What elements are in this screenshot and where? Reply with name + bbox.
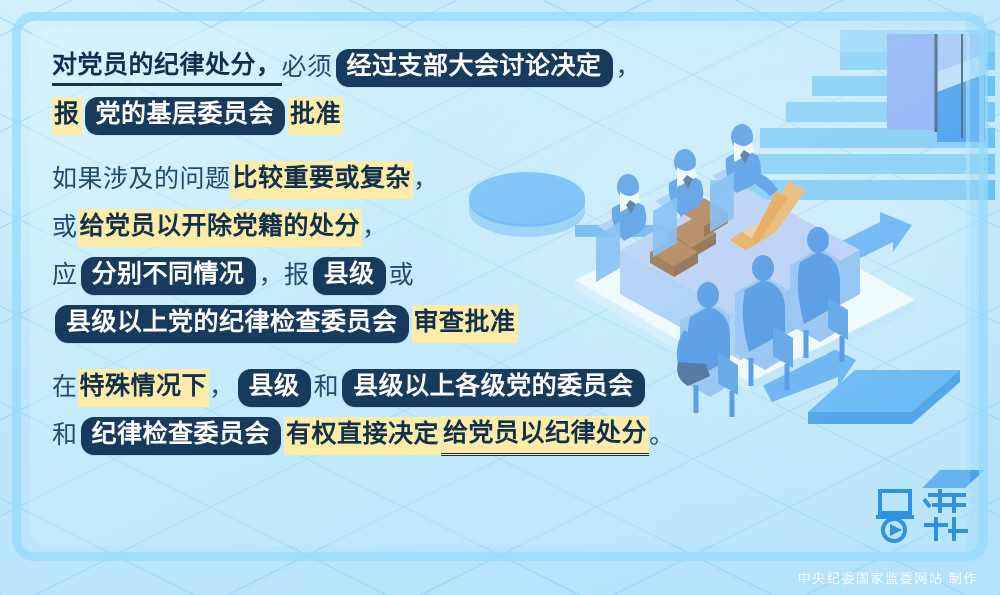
- pill-term: 经过支部大会讨论决定: [336, 49, 613, 88]
- pill-term: 分别不同情况: [81, 257, 256, 296]
- text-line: 县级以上党的纪律检查委员会审查批准: [52, 302, 692, 346]
- text-line: 和纪律检查委员会有权直接决定给党员以纪律处分。: [52, 414, 692, 458]
- figure-front-mid: [735, 255, 793, 390]
- plain-text: ，: [413, 164, 439, 197]
- plain-text: ，: [362, 212, 388, 245]
- arrow-right-far: [800, 212, 912, 281]
- jifake-logo: [870, 487, 974, 543]
- plain-text: ，: [209, 372, 235, 405]
- highlighted-term: 给党员以纪律处分: [441, 416, 649, 457]
- paragraph-p3: 在特殊情况下，县级和县级以上各级党的委员会和纪律检查委员会有权直接决定给党员以纪…: [52, 366, 692, 458]
- isometric-stairs: [710, 30, 995, 200]
- plain-text: 或: [389, 260, 415, 293]
- policy-text-block: 对党员的纪律处分，必须经过支部大会讨论决定，报党的基层委员会批准如果涉及的问题比…: [52, 46, 692, 462]
- plain-text: 。: [649, 420, 675, 453]
- pill-term: 县级以上各级党的委员会: [342, 369, 645, 408]
- plain-text: 报: [284, 260, 310, 293]
- pill-term: 县级: [238, 369, 311, 408]
- pill-term: 党的基层委员会: [85, 97, 286, 136]
- highlighted-term: 批准: [288, 97, 343, 135]
- logo-mark: [870, 487, 974, 543]
- plain-text: 和: [314, 372, 340, 405]
- pill-term: 县级: [313, 257, 386, 296]
- plain-text: 和: [52, 420, 78, 453]
- underlined-term: 对党员的纪律处分，: [52, 50, 282, 87]
- plain-text: 应: [52, 260, 78, 293]
- text-line: 或给党员以开除党籍的处分，: [52, 206, 692, 250]
- window-panel: [887, 34, 985, 142]
- poster-canvas: 对党员的纪律处分，必须经过支部大会讨论决定，报党的基层委员会批准如果涉及的问题比…: [0, 0, 1000, 595]
- plain-text: 必须: [282, 52, 333, 85]
- text-line: 如果涉及的问题比较重要或复杂，: [52, 158, 692, 202]
- text-line: 报党的基层委员会批准: [52, 94, 692, 138]
- credit-text: 中央纪委国家监委网站 制作: [798, 568, 978, 587]
- text-line: 在特殊情况下，县级和县级以上各级党的委员会: [52, 366, 692, 410]
- paragraph-p1: 对党员的纪律处分，必须经过支部大会讨论决定，报党的基层委员会批准: [52, 46, 692, 138]
- arrow-down-right: [760, 345, 856, 402]
- plain-text: 如果涉及的问题: [52, 164, 231, 197]
- figure-front-right: [790, 227, 848, 362]
- floating-platform: [808, 370, 960, 424]
- highlighted-term: 报: [52, 97, 82, 135]
- right-light-band: [966, 16, 984, 561]
- highlighted-term: 比较重要或复杂: [231, 161, 414, 199]
- paragraph-p2: 如果涉及的问题比较重要或复杂，或给党员以开除党籍的处分，应分别不同情况，报县级或…: [52, 158, 692, 346]
- text-line: 对党员的纪律处分，必须经过支部大会讨论决定，: [52, 46, 692, 90]
- small-platform: [922, 470, 985, 488]
- plain-text: 在: [52, 372, 78, 405]
- highlighted-term: 特殊情况下: [78, 369, 210, 407]
- plain-text: ，: [616, 52, 642, 85]
- text-line: 应分别不同情况，报县级或: [52, 254, 692, 298]
- plain-text: ，: [259, 260, 285, 293]
- orange-checkmark: [730, 181, 806, 250]
- highlighted-term: 审查批准: [412, 305, 518, 343]
- highlighted-term: 给党员以开除党籍的处分: [78, 209, 363, 247]
- pill-term: 县级以上党的纪律检查委员会: [55, 305, 409, 344]
- plain-text: 或: [52, 212, 78, 245]
- figure-back-right: [712, 124, 778, 196]
- pill-term: 纪律检查委员会: [81, 417, 282, 456]
- highlighted-term: 有权直接决定: [284, 417, 441, 455]
